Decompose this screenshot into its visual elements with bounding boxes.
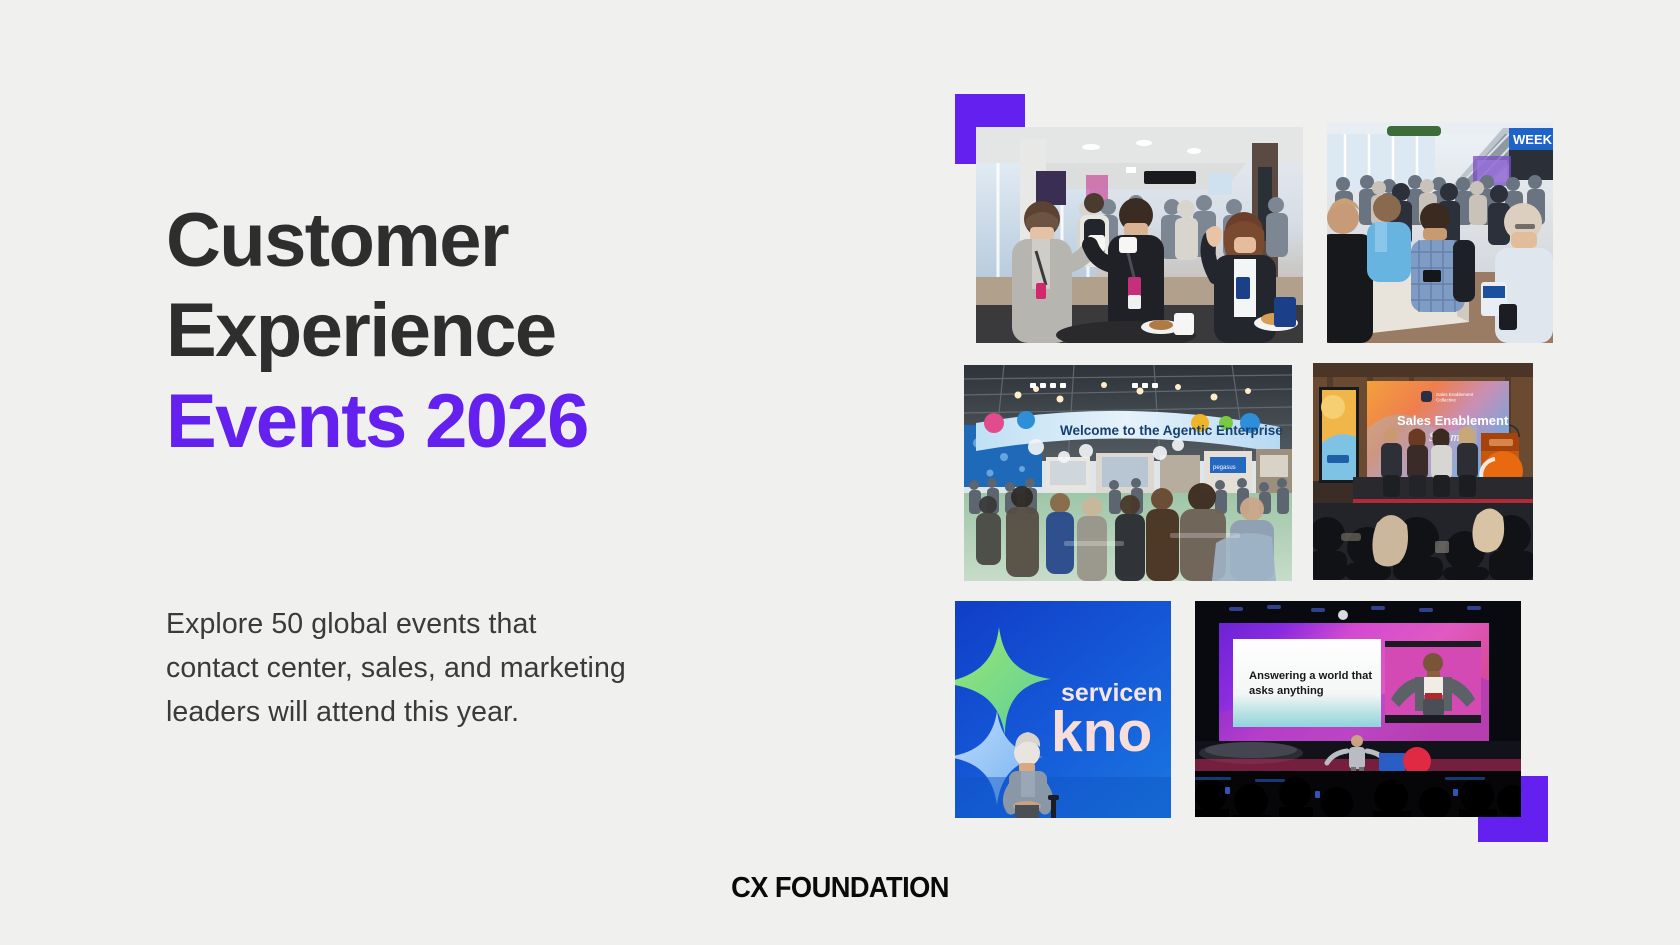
svg-text:pegasus: pegasus bbox=[1213, 465, 1236, 471]
slide-text-line1: Answering a world that bbox=[1249, 670, 1372, 682]
collage-photo-conference-networking bbox=[976, 127, 1303, 343]
screen-title: Sales Enablement bbox=[1397, 413, 1509, 428]
banner-text: Welcome to the Agentic Enterprise bbox=[1060, 423, 1283, 438]
screen-brand-line1: Sales Enablement bbox=[1436, 392, 1474, 397]
screen-brand-line2: Collective bbox=[1436, 398, 1456, 403]
collage-photo-expo-floor-crowd: WEEK bbox=[1327, 122, 1553, 343]
cx-foundation-logo: CX FOUNDATION bbox=[50, 872, 1629, 905]
collage-photo-keynote-answering-world: Answering a world that asks anything bbox=[1195, 601, 1521, 817]
slide-text-line2: asks anything bbox=[1249, 685, 1324, 697]
screen-brand-knowledge: kno bbox=[1051, 700, 1152, 764]
collage-photo-servicenow-knowledge-keynote: servicen kno bbox=[955, 601, 1171, 818]
svg-text:WEEK: WEEK bbox=[1513, 132, 1553, 147]
collage-photo-agentic-enterprise-hall: Welcome to the Agentic Enterprise pegasu… bbox=[964, 365, 1292, 581]
collage-photo-sales-enablement-summit: Sales Enablement Collective Sales Enable… bbox=[1313, 363, 1533, 580]
photo-collage: WEEK bbox=[0, 0, 1680, 945]
